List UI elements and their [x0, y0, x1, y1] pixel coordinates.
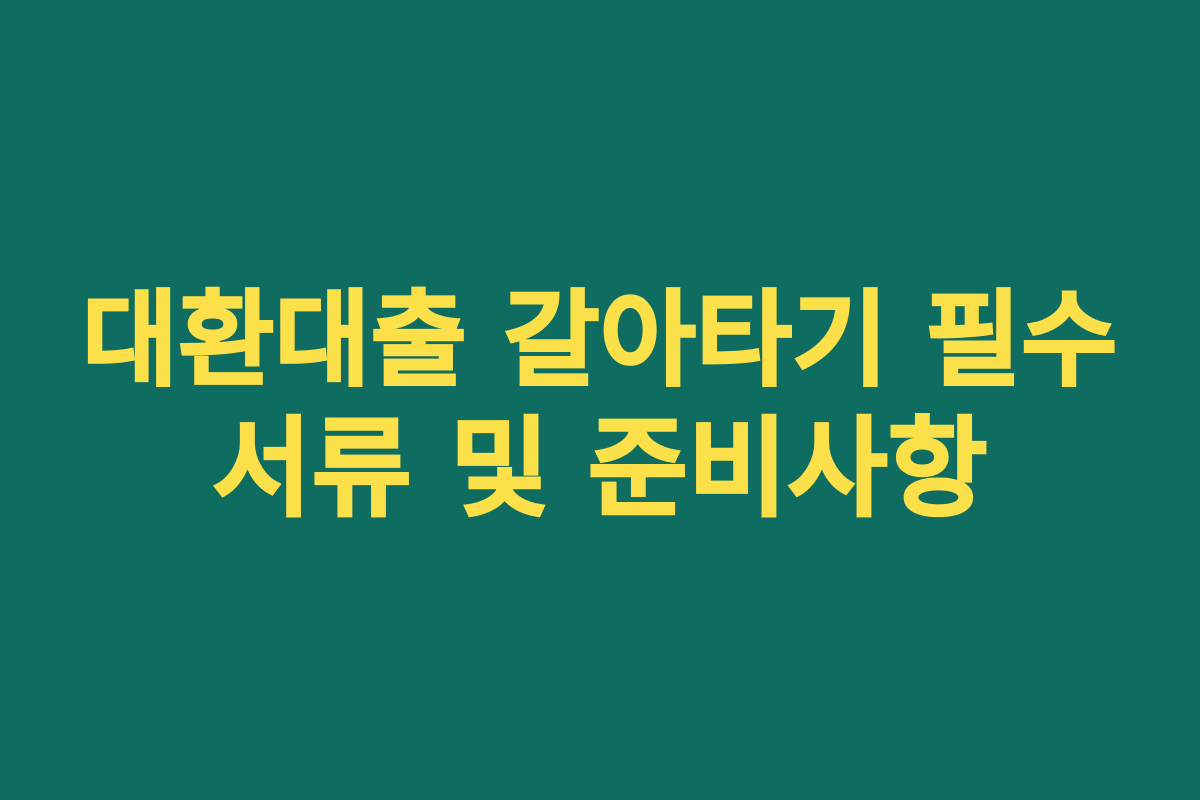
headline-line-2: 서류 및 준비사항 [40, 405, 1160, 535]
headline-block: 대환대출 갈아타기 필수 서류 및 준비사항 [0, 275, 1200, 535]
headline-line-1: 대환대출 갈아타기 필수 [40, 275, 1160, 405]
title-card: 대환대출 갈아타기 필수 서류 및 준비사항 [0, 0, 1200, 800]
